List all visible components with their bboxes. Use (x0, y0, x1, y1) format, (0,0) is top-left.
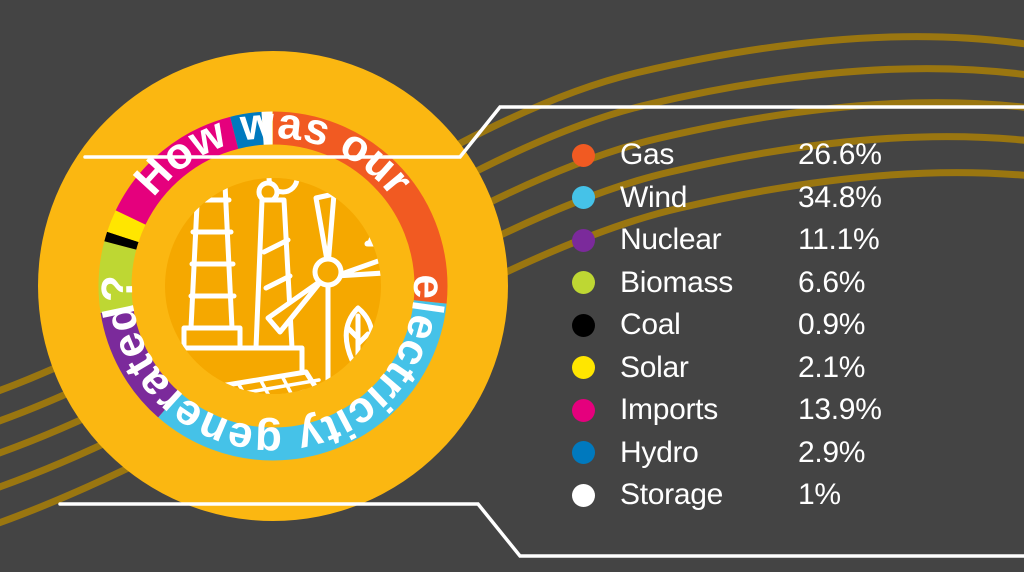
legend-value-nuclear: 11.1% (798, 225, 879, 255)
legend-label-storage: Storage (620, 480, 798, 510)
legend-swatch-gas (572, 144, 595, 167)
legend-item-wind[interactable]: Wind 34.8% (560, 177, 960, 220)
legend-swatch-imports (572, 399, 595, 422)
legend-swatch-nuclear (572, 229, 595, 252)
legend-value-wind: 34.8% (798, 183, 882, 213)
generation-legend: Gas 26.6% Wind 34.8% Nuclear 11.1% Bioma… (560, 134, 960, 517)
legend-label-hydro: Hydro (620, 438, 798, 468)
legend-value-coal: 0.9% (798, 310, 865, 340)
legend-value-imports: 13.9% (798, 395, 882, 425)
legend-item-solar[interactable]: Solar 2.1% (560, 347, 960, 390)
legend-label-nuclear: Nuclear (620, 225, 798, 255)
legend-item-coal[interactable]: Coal 0.9% (560, 304, 960, 347)
legend-value-solar: 2.1% (798, 353, 865, 383)
legend-label-imports: Imports (620, 395, 798, 425)
infographic-root: How was our electricity generated? Gas 2… (0, 0, 1024, 572)
legend-swatch-hydro (572, 441, 595, 464)
legend-item-gas[interactable]: Gas 26.6% (560, 134, 960, 177)
legend-item-imports[interactable]: Imports 13.9% (560, 389, 960, 432)
legend-item-nuclear[interactable]: Nuclear 11.1% (560, 219, 960, 262)
legend-swatch-wind (572, 186, 595, 209)
legend-swatch-coal (572, 314, 595, 337)
legend-label-biomass: Biomass (620, 268, 798, 298)
legend-value-biomass: 6.6% (798, 268, 865, 298)
legend-swatch-solar (572, 356, 595, 379)
legend-value-hydro: 2.9% (798, 438, 865, 468)
legend-swatch-storage (572, 484, 595, 507)
legend-item-storage[interactable]: Storage 1% (560, 474, 960, 517)
legend-label-gas: Gas (620, 140, 798, 170)
legend-label-wind: Wind (620, 183, 798, 213)
legend-swatch-biomass (572, 271, 595, 294)
legend-value-gas: 26.6% (798, 140, 882, 170)
legend-item-biomass[interactable]: Biomass 6.6% (560, 262, 960, 305)
legend-label-coal: Coal (620, 310, 798, 340)
legend-item-hydro[interactable]: Hydro 2.9% (560, 432, 960, 475)
legend-value-storage: 1% (798, 480, 841, 510)
legend-label-solar: Solar (620, 353, 798, 383)
